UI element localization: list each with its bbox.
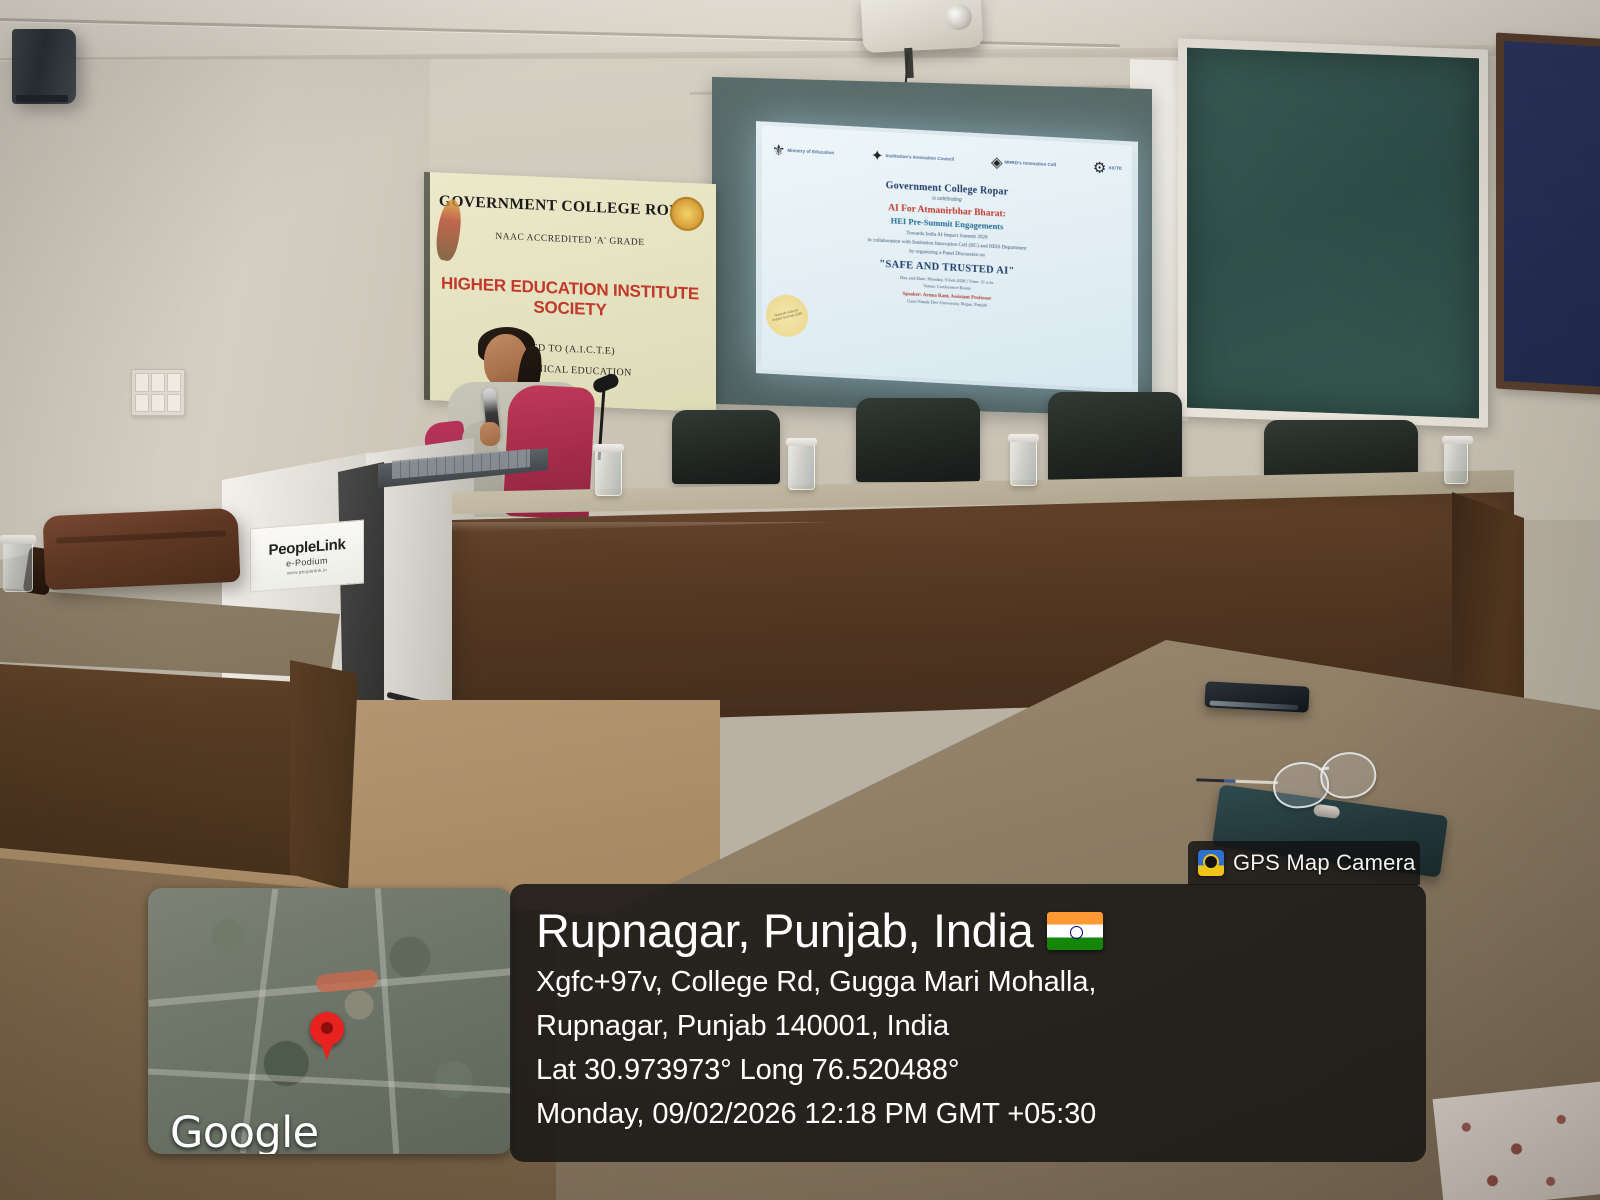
- gps-map-camera-badge: GPS Map Camera: [1188, 841, 1420, 885]
- podium-brand: PeopleLink: [268, 535, 345, 558]
- switch-toggle[interactable]: [167, 373, 181, 392]
- gps-place-row: Rupnagar, Punjab, India: [536, 906, 1400, 957]
- switch-toggle[interactable]: [167, 394, 181, 413]
- gear-icon: ⚙: [1093, 160, 1106, 176]
- e-podium-brand-plate: PeopleLink e-Podium www.peoplelink.in: [250, 520, 364, 593]
- water-tumbler: [1010, 438, 1037, 486]
- gps-address-line-1: Xgfc+97v, College Rd, Gugga Mari Mohalla…: [536, 964, 1400, 1001]
- banner-society: HIGHER EDUCATION INSTITUTE SOCIETY: [434, 273, 706, 324]
- water-tumbler: [595, 448, 622, 496]
- iic-logo-icon: ✦ Institution's Innovation Council: [871, 148, 954, 168]
- logo-label: Institution's Innovation Council: [886, 154, 955, 162]
- presentation-slide: ⚜ Ministry of Education ✦ Institution's …: [762, 125, 1132, 389]
- emblem-icon: ⚜ Ministry of Education: [772, 142, 834, 160]
- light-switch-panel[interactable]: [131, 369, 185, 416]
- google-watermark: Google: [170, 1108, 319, 1154]
- gps-app-name: GPS Map Camera: [1233, 850, 1416, 876]
- slide-organizing: by organizing a Panel Discussion on: [909, 248, 985, 258]
- side-table-leg: [290, 660, 358, 890]
- wall-speaker: [12, 29, 76, 104]
- gps-timestamp: Monday, 09/02/2026 12:18 PM GMT +05:30: [536, 1096, 1400, 1133]
- slide-seal-badge: Towards India AI Impact Summit 2026: [761, 291, 813, 341]
- ceiling-projector: [861, 0, 984, 53]
- india-flag-icon: [1047, 912, 1103, 950]
- gps-info-panel: Rupnagar, Punjab, India Xgfc+97v, Colleg…: [510, 884, 1426, 1162]
- projection-screen: ⚜ Ministry of Education ✦ Institution's …: [712, 77, 1152, 416]
- mic-logo-icon: ◈ MHRD's Innovation Cell: [991, 154, 1056, 173]
- leather-bag: [42, 508, 240, 590]
- gps-coordinates: Lat 30.973973° Long 76.520488°: [536, 1052, 1400, 1089]
- aicte-logo-icon: ⚙ AICTE: [1093, 160, 1122, 177]
- logo-label: MHRD's Innovation Cell: [1005, 160, 1057, 167]
- map-road: [375, 888, 400, 1154]
- slide-logo-row: ⚜ Ministry of Education ✦ Institution's …: [772, 133, 1122, 186]
- camera-app-icon: [1198, 850, 1224, 876]
- banner-title: GOVERNMENT COLLEGE ROPAR: [434, 192, 706, 221]
- photo-canvas: ⚜ Ministry of Education ✦ Institution's …: [0, 0, 1600, 1200]
- green-chalkboard: [1178, 38, 1488, 427]
- cell-icon: ◈: [991, 154, 1003, 170]
- switch-toggle[interactable]: [135, 373, 149, 392]
- map-building: [315, 969, 379, 993]
- water-tumbler: [3, 540, 33, 592]
- screen-surface: ⚜ Ministry of Education ✦ Institution's …: [756, 121, 1138, 394]
- gps-address-line-2: Rupnagar, Punjab 140001, India: [536, 1008, 1400, 1045]
- innovation-icon: ✦: [871, 148, 884, 164]
- logo-label: Ministry of Education: [787, 148, 834, 155]
- chalkboard-surface: [1187, 48, 1479, 419]
- switch-toggle[interactable]: [151, 373, 165, 392]
- map-pin-icon: [310, 1012, 344, 1046]
- podium-website: www.peoplelink.in: [287, 567, 327, 575]
- switch-toggle[interactable]: [151, 394, 165, 413]
- water-tumbler: [1444, 440, 1468, 484]
- presenter-hand: [480, 422, 500, 446]
- banner-accreditation: NAAC ACCREDITED 'A' GRADE: [434, 229, 706, 250]
- logo-label: AICTE: [1108, 166, 1122, 171]
- gps-place-name: Rupnagar, Punjab, India: [536, 906, 1033, 957]
- leather-chair: [1048, 392, 1182, 482]
- ashoka-emblem-icon: ⚜: [772, 142, 785, 158]
- leather-chair: [672, 410, 780, 484]
- patterned-carpet: [1433, 1081, 1600, 1200]
- conference-dais-side: [1452, 492, 1524, 720]
- notice-board-surface: [1504, 41, 1600, 387]
- water-tumbler: [788, 442, 815, 490]
- slide-venue: Venue: Conference Room: [923, 283, 970, 291]
- podium-product: e-Podium: [286, 555, 328, 568]
- leather-chair: [856, 398, 980, 482]
- blue-notice-board: [1496, 32, 1600, 395]
- slide-institute: Government College Ropar: [886, 180, 1009, 198]
- banner-seal-icon: [670, 196, 704, 231]
- eyeglasses-temple: [1196, 778, 1278, 784]
- smartphone: [1204, 681, 1309, 712]
- slide-celebrating: is celebrating: [932, 196, 961, 204]
- switch-toggle[interactable]: [135, 394, 149, 413]
- map-road: [148, 1068, 512, 1093]
- projector-lens-icon: [945, 3, 972, 30]
- map-thumbnail[interactable]: Google: [148, 888, 512, 1154]
